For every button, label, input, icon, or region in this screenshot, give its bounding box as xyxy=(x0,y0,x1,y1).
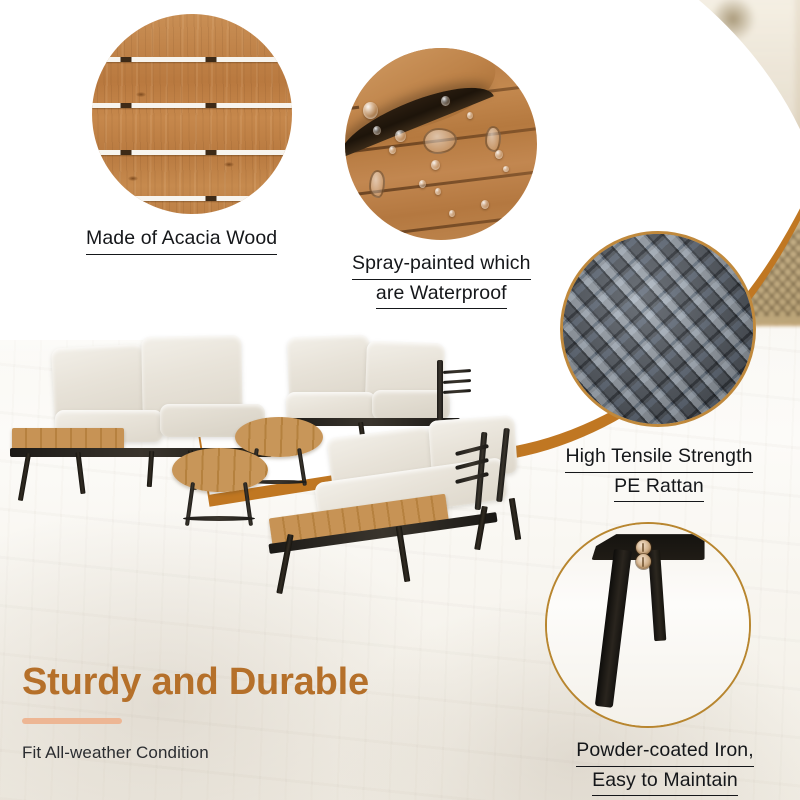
feature-label-waterproof: Spray-painted which are Waterproof xyxy=(352,250,531,309)
coffee-table-small-top xyxy=(172,448,268,492)
page-subtitle: Fit All-weather Condition xyxy=(22,743,369,763)
feature-label-line: PE Rattan xyxy=(614,473,704,503)
feature-label-line: Easy to Maintain xyxy=(592,767,738,797)
feature-label-acacia: Made of Acacia Wood xyxy=(86,225,277,255)
wood-slats-circle-icon xyxy=(92,14,292,214)
feature-label-line: Made of Acacia Wood xyxy=(86,225,277,255)
sofa-back-arm-slat-2 xyxy=(443,379,471,384)
feature-graphic: Made of Acacia Wood Spray-painted which … xyxy=(0,0,800,800)
sofa-front-leg-3 xyxy=(474,506,488,550)
page-title: Sturdy and Durable xyxy=(22,662,369,703)
feature-label-iron: Powder-coated Iron, Easy to Maintain xyxy=(557,737,773,796)
sofa-front-leg-4 xyxy=(509,498,521,540)
feature-label-line: Spray-painted which xyxy=(352,250,531,280)
coffee-table-small-ring xyxy=(183,516,255,521)
sofa-left-leg-3 xyxy=(147,451,154,487)
sofa-left-back-cushion-1 xyxy=(51,344,147,421)
pe-rattan-weave-circle-icon xyxy=(560,231,756,427)
feature-label-line: are Waterproof xyxy=(376,280,507,310)
sofa-left-leg-2 xyxy=(75,452,85,494)
coffee-table-large-top xyxy=(235,417,323,457)
headline-divider xyxy=(22,718,122,724)
iron-leg-circle-icon xyxy=(545,522,751,728)
sofa-back-arm-slat-3 xyxy=(443,389,471,394)
feature-label-line: High Tensile Strength xyxy=(565,443,752,473)
sofa-back-cushion-1 xyxy=(287,335,371,400)
sofa-back-arm-slat-1 xyxy=(443,369,471,374)
feature-label-rattan: High Tensile Strength PE Rattan xyxy=(553,443,765,502)
headline-block: Sturdy and Durable Fit All-weather Condi… xyxy=(22,662,369,763)
furniture-scene xyxy=(0,320,620,640)
feature-label-line: Powder-coated Iron, xyxy=(576,737,754,767)
sofa-left-wood-shelf xyxy=(12,428,124,450)
sofa-left-leg-1 xyxy=(18,453,31,501)
screw-head-icon xyxy=(636,540,651,555)
water-droplets-circle-icon xyxy=(345,48,537,240)
